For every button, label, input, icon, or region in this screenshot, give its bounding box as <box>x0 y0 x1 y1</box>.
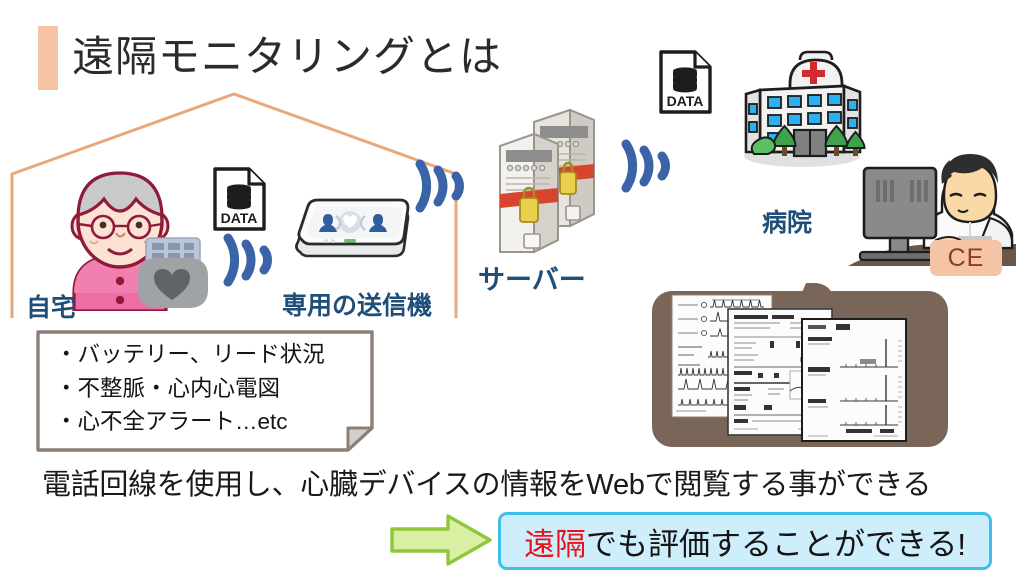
info-bubble-list: ・バッテリー、リード状況 ・不整脈・心内心電図 ・心不全アラート…etc <box>55 338 375 439</box>
conclusion-text: 遠隔でも評価することができる! <box>524 519 966 564</box>
wifi-signal-icon <box>222 224 284 296</box>
page-title: 遠隔モニタリングとは <box>72 24 502 90</box>
list-item: ・バッテリー、リード状況 <box>55 338 375 372</box>
report-documents-icon <box>650 283 950 449</box>
list-item: ・心不全アラート…etc <box>55 405 375 439</box>
slide-canvas: 遠隔モニタリングとは <box>0 0 1024 576</box>
conclusion-rest: でも評価することができる! <box>586 527 966 562</box>
list-item: ・不整脈・心内心電図 <box>55 372 375 406</box>
data-icon-label: DATA <box>667 93 704 109</box>
label-transmitter: 専用の送信機 <box>282 286 432 322</box>
wifi-signal-icon <box>620 130 682 202</box>
data-file-icon: DATA <box>210 165 268 233</box>
label-home: 自宅 <box>26 288 76 324</box>
ce-badge: CE <box>930 240 1002 276</box>
label-server: サーバー <box>478 258 586 297</box>
right-arrow-icon <box>388 513 494 567</box>
data-file-icon: DATA <box>656 48 714 116</box>
conclusion-box: 遠隔でも評価することができる! <box>498 512 992 570</box>
ce-badge-label: CE <box>948 244 985 273</box>
home-transmitter-device-icon <box>286 194 418 274</box>
label-hospital: 病院 <box>762 203 812 239</box>
title-accent-bar <box>38 26 58 90</box>
pacemaker-heart-device-icon <box>128 232 216 314</box>
caption-text: 電話回線を使用し、心臓デバイスの情報をWebで閲覧する事ができる <box>42 461 931 503</box>
conclusion-highlight: 遠隔 <box>524 527 586 562</box>
wifi-signal-icon <box>414 150 476 222</box>
server-rack-lock-icon <box>494 94 606 262</box>
